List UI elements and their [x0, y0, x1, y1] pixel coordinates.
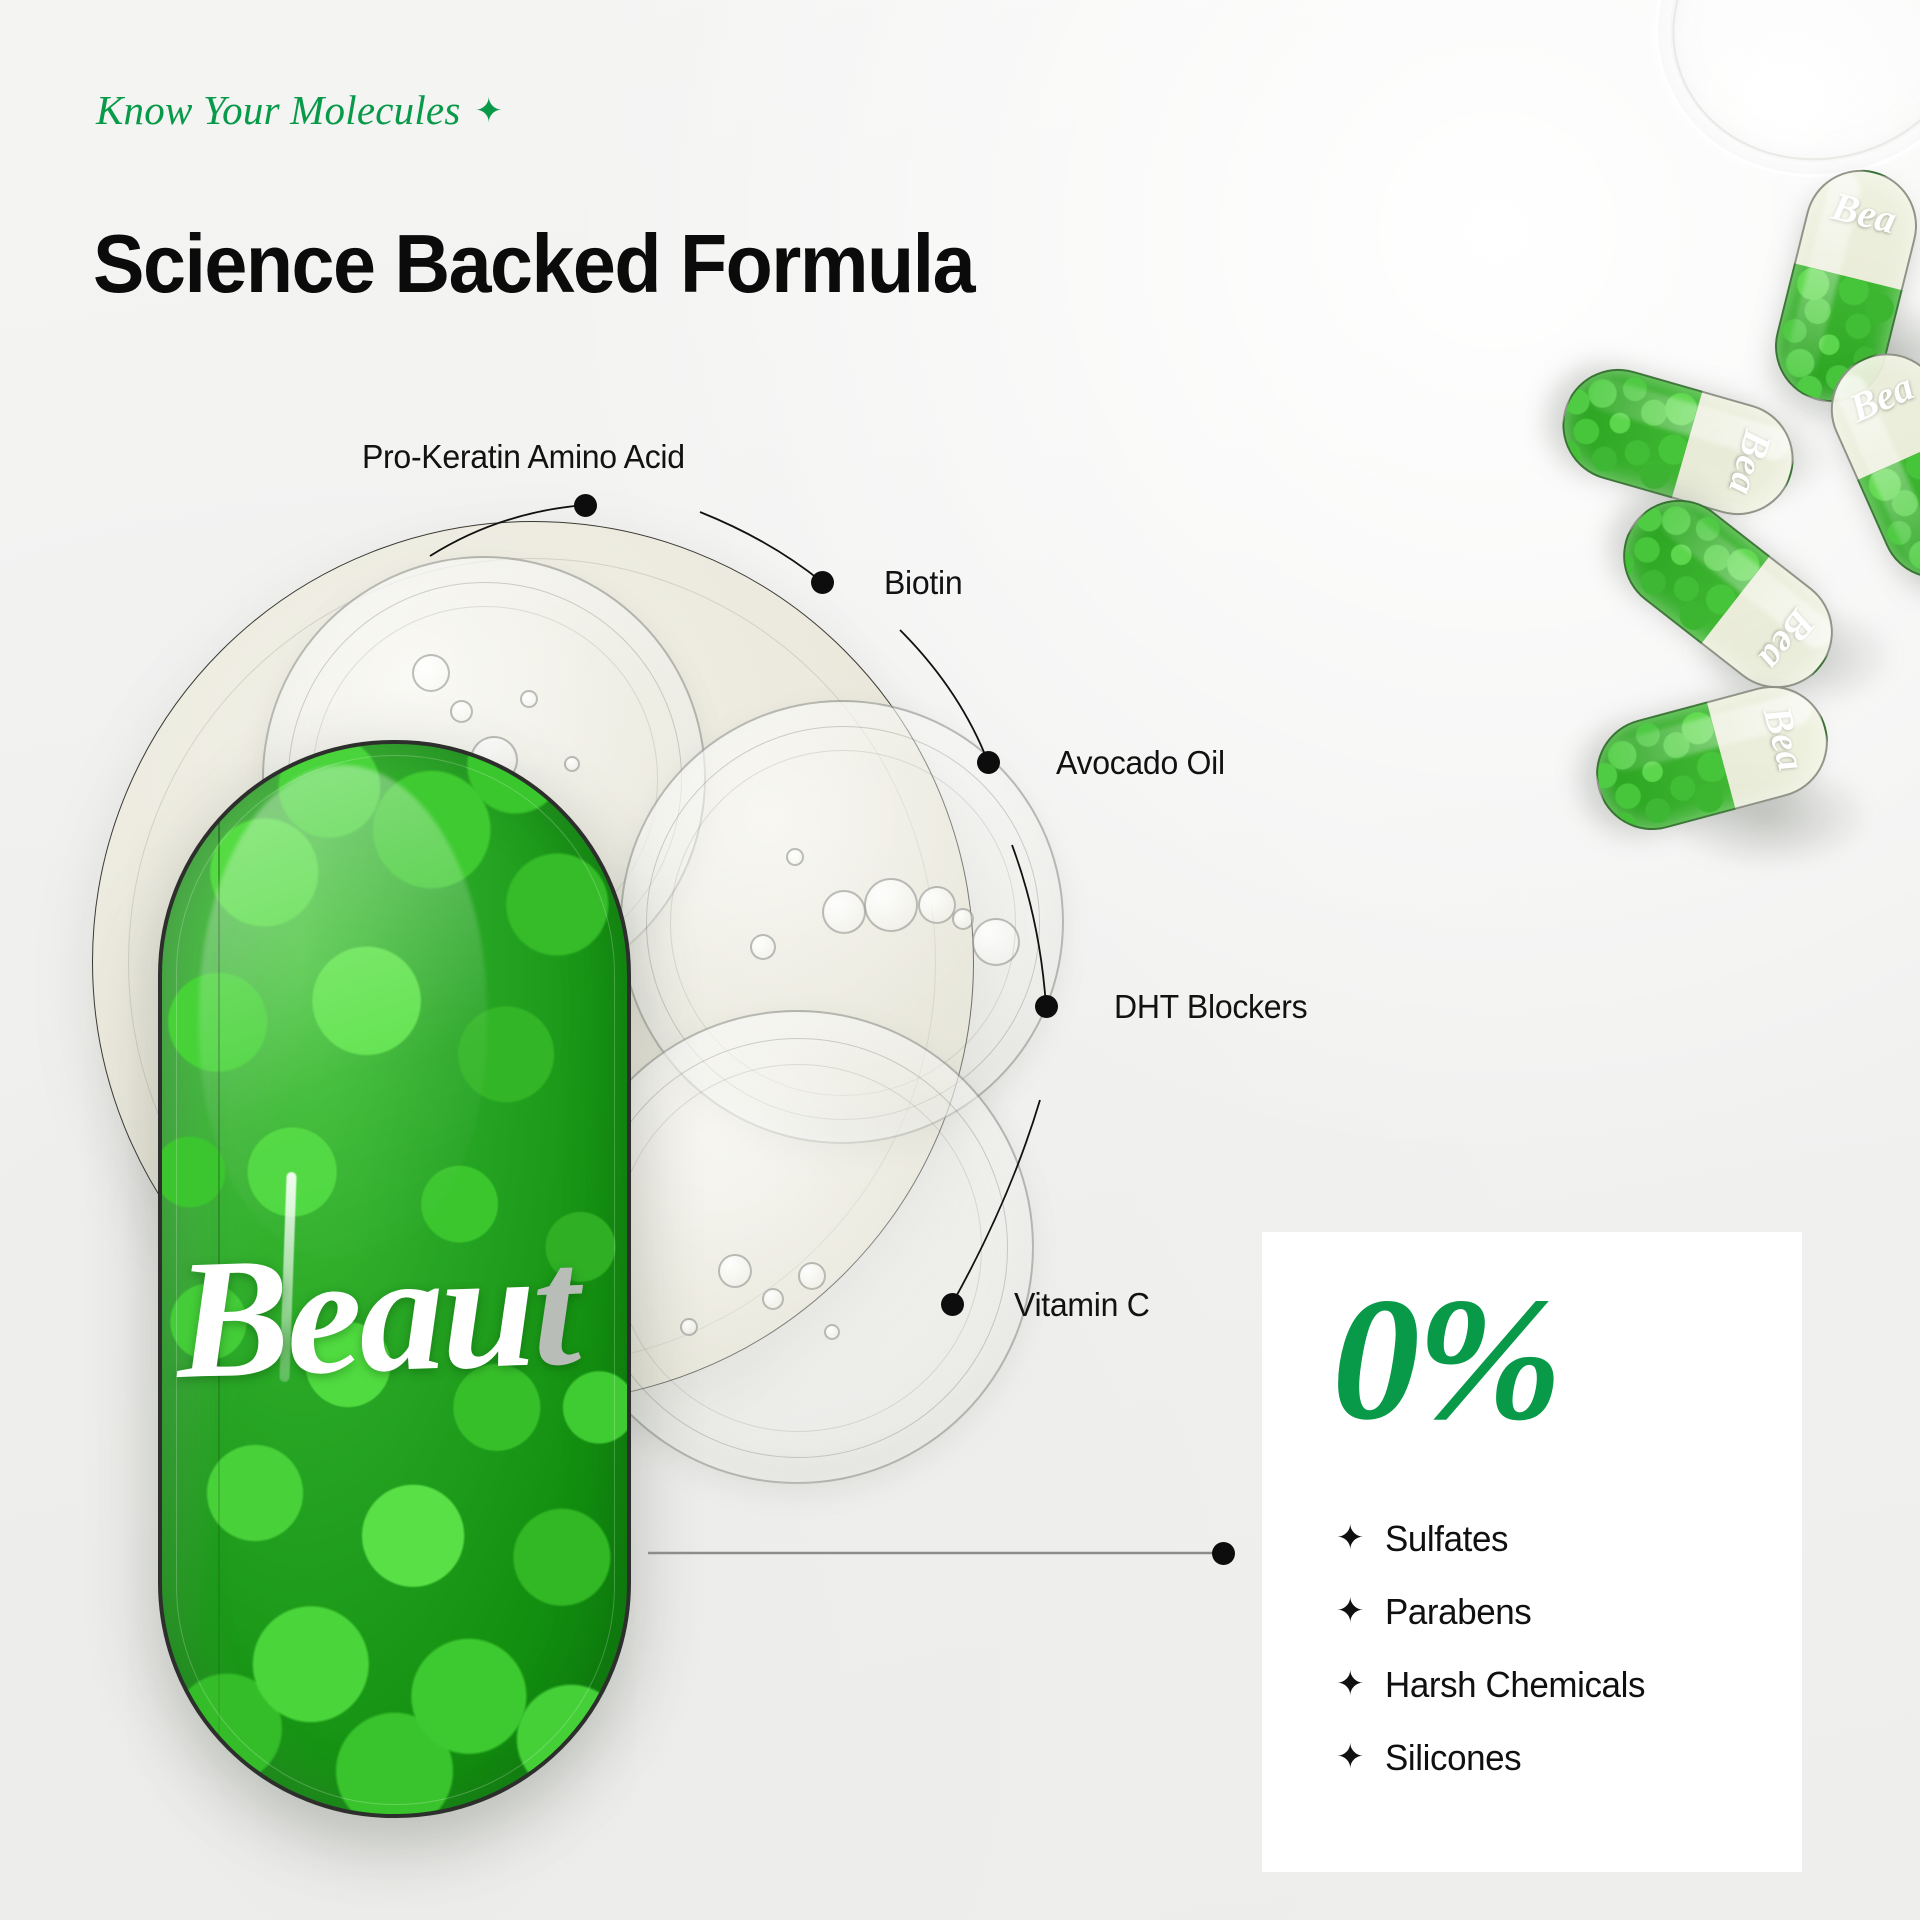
sparkle-icon: ✦: [1336, 1740, 1365, 1774]
claim-item-silicones: ✦ Silicones: [1336, 1721, 1653, 1794]
claim-label: Sulfates: [1385, 1518, 1508, 1560]
bubble: [450, 700, 473, 723]
callout-label-vitamin-c: Vitamin C: [1014, 1286, 1150, 1324]
poster-canvas: Know Your Molecules✦ Science Backed Form…: [0, 0, 1920, 1920]
bubble: [718, 1254, 752, 1288]
claim-label: Harsh Chemicals: [1385, 1664, 1645, 1706]
capsule-edge-ring: [176, 755, 615, 1806]
claim-label: Silicones: [1385, 1737, 1521, 1779]
claim-item-parabens: ✦ Parabens: [1336, 1575, 1653, 1648]
petri-dish-bottom: [560, 1010, 1034, 1484]
bubble: [412, 654, 450, 692]
bubble: [824, 1324, 840, 1340]
callout-dot-claims-card: [1212, 1542, 1235, 1565]
claim-label: Parabens: [1385, 1591, 1531, 1633]
hero-composition: Beaut: [0, 0, 1200, 1920]
hero-capsule: Beaut: [158, 740, 631, 1818]
claims-card: 0% ✦ Sulfates ✦ Parabens ✦ Harsh Chemica…: [1262, 1232, 1802, 1872]
claim-item-sulfates: ✦ Sulfates: [1336, 1502, 1653, 1575]
bubble: [972, 918, 1020, 966]
bubble: [750, 934, 776, 960]
bubble: [762, 1288, 784, 1310]
bubble: [564, 756, 580, 772]
bubble: [952, 908, 974, 930]
bubble: [822, 890, 866, 934]
callout-label-avocado-oil: Avocado Oil: [1056, 744, 1225, 782]
bubble: [864, 878, 918, 932]
callout-dot-pro-keratin-amino-acid: [574, 494, 597, 517]
claim-item-harsh-chemicals: ✦ Harsh Chemicals: [1336, 1648, 1653, 1721]
callout-label-dht-blockers: DHT Blockers: [1114, 988, 1307, 1026]
callout-label-biotin: Biotin: [884, 564, 962, 602]
zero-percent-figure: 0%: [1332, 1272, 1559, 1448]
bubble: [918, 886, 956, 924]
bubble: [786, 848, 804, 866]
sparkle-icon: ✦: [1336, 1521, 1365, 1555]
callout-dot-biotin: [811, 571, 834, 594]
callout-label-pro-keratin-amino-acid: Pro-Keratin Amino Acid: [362, 438, 685, 476]
callout-dot-vitamin-c: [941, 1293, 964, 1316]
sparkle-icon: ✦: [1336, 1594, 1365, 1628]
callout-dot-avocado-oil: [977, 751, 1000, 774]
bubble: [520, 690, 538, 708]
callout-dot-dht-blockers: [1035, 995, 1058, 1018]
sparkle-icon: ✦: [1336, 1667, 1365, 1701]
claims-list: ✦ Sulfates ✦ Parabens ✦ Harsh Chemicals …: [1336, 1502, 1653, 1794]
bubble: [798, 1262, 826, 1290]
bubble: [680, 1318, 698, 1336]
